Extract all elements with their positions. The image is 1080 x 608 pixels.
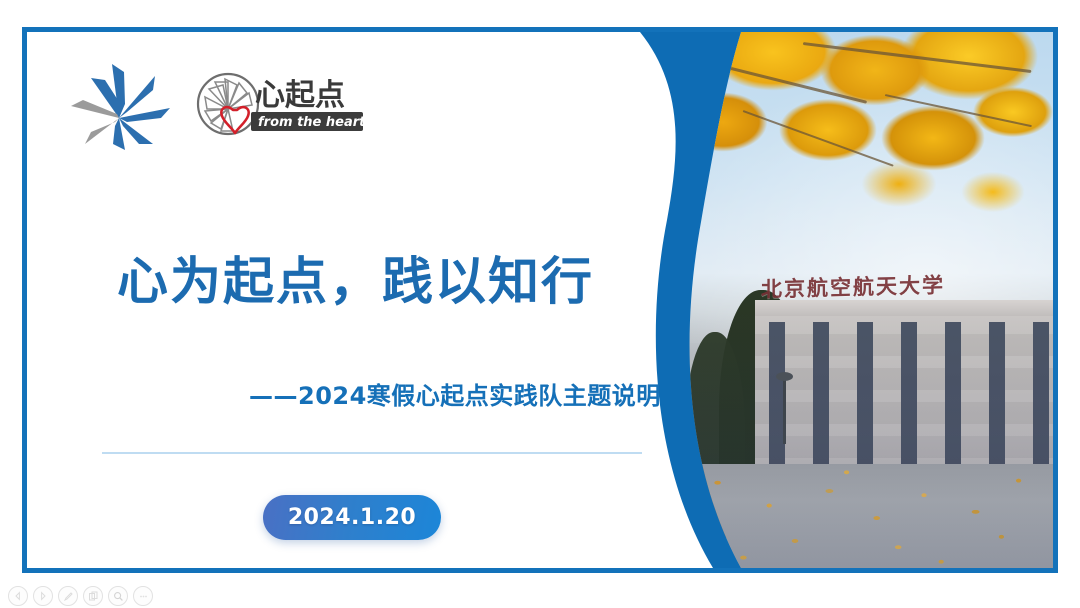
- page-subtitle: ——2024寒假心起点实践队主题说明: [249, 376, 661, 411]
- more-options-icon[interactable]: [133, 586, 153, 606]
- buaa-petal-logo: [69, 56, 173, 152]
- slide-right-panel: 北京航空航天大学: [623, 32, 1053, 568]
- viewer-toolbar: [8, 586, 153, 606]
- svg-text:心起点: 心起点: [255, 78, 345, 113]
- previous-page-icon[interactable]: [8, 586, 28, 606]
- zoom-search-icon[interactable]: [108, 586, 128, 606]
- xinqidian-logo: 心起点 from the heart: [195, 63, 367, 145]
- page-title: 心为起点，践以知行: [117, 254, 637, 313]
- edit-pen-icon[interactable]: [58, 586, 78, 606]
- divider-line: [102, 452, 642, 454]
- slide-canvas: 北京航空航天大学: [27, 32, 1053, 568]
- street-lamp: [783, 380, 786, 444]
- slide-frame: 北京航空航天大学: [22, 27, 1058, 573]
- slide-viewer: 北京航空航天大学: [0, 0, 1080, 608]
- date-badge[interactable]: 2024.1.20: [263, 495, 441, 540]
- logo-row: 心起点 from the heart: [69, 56, 367, 152]
- copy-pages-icon[interactable]: [83, 586, 103, 606]
- slide-content: 心起点 from the heart 心为起点，践以知行 ——2024寒假心起点…: [27, 32, 687, 568]
- building-windows: [755, 322, 1053, 470]
- svg-text:from the heart: from the heart: [258, 115, 366, 130]
- next-page-icon[interactable]: [33, 586, 53, 606]
